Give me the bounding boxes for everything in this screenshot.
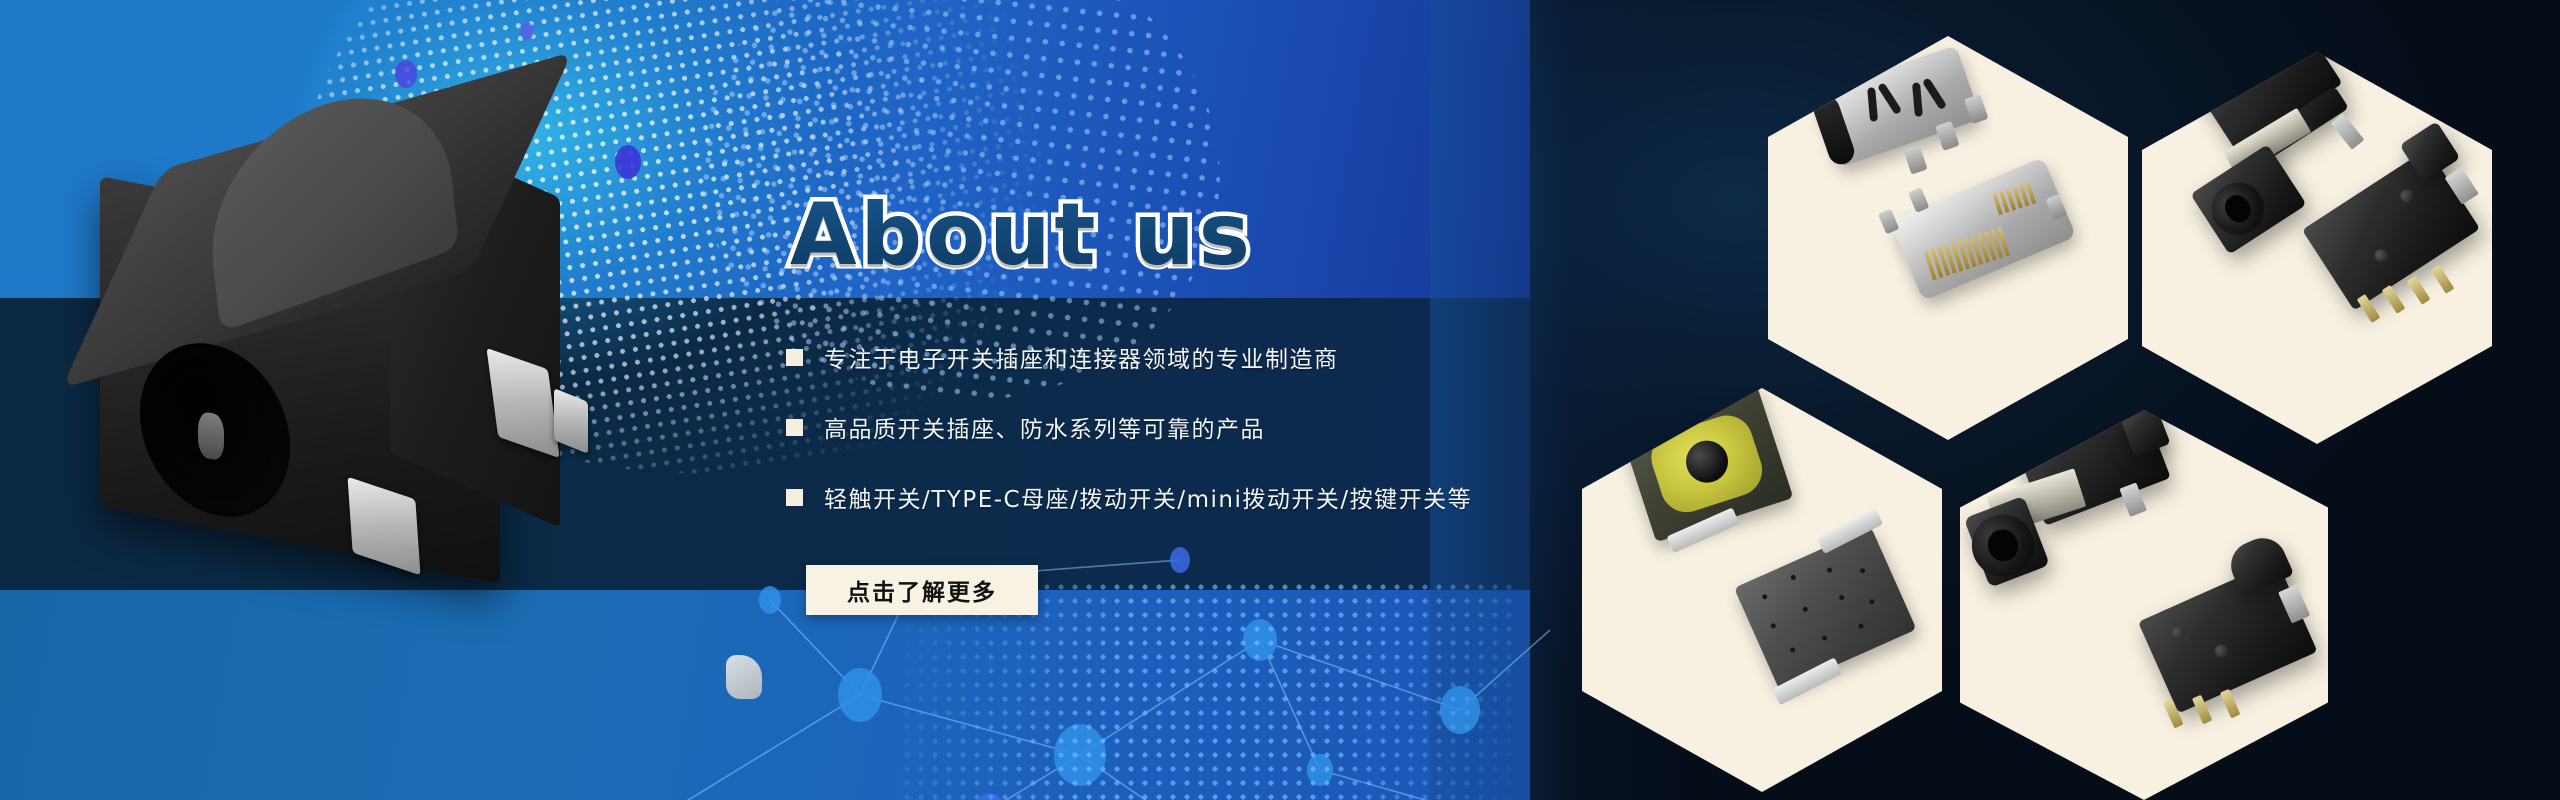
learn-more-button[interactable]: 点击了解更多 (806, 565, 1038, 615)
square-bullet-icon (786, 419, 803, 436)
decorative-chip-fragment (726, 655, 762, 699)
page-title: About us (790, 185, 1254, 285)
about-us-banner: About us About us 专注于电子开关插座和连接器领域的专业制造商 … (0, 0, 2560, 800)
decorative-dot-2 (395, 60, 417, 88)
list-item: 高品质开关插座、防水系列等可靠的产品 (786, 410, 1486, 444)
bullet-label: 轻触开关/TYPE-C母座/拨动开关/mini拨动开关/按键开关等 (824, 480, 1472, 514)
list-item: 专注于电子开关插座和连接器领域的专业制造商 (786, 340, 1486, 374)
decorative-dot-3 (520, 22, 534, 40)
list-item: 轻触开关/TYPE-C母座/拨动开关/mini拨动开关/按键开关等 (786, 480, 1486, 514)
bullet-label: 高品质开关插座、防水系列等可靠的产品 (824, 410, 1265, 444)
hero-product-image (60, 95, 680, 655)
square-bullet-icon (786, 489, 803, 506)
feature-bullet-list: 专注于电子开关插座和连接器领域的专业制造商 高品质开关插座、防水系列等可靠的产品… (786, 340, 1486, 550)
bullet-label: 专注于电子开关插座和连接器领域的专业制造商 (824, 340, 1339, 374)
square-bullet-icon (786, 349, 803, 366)
